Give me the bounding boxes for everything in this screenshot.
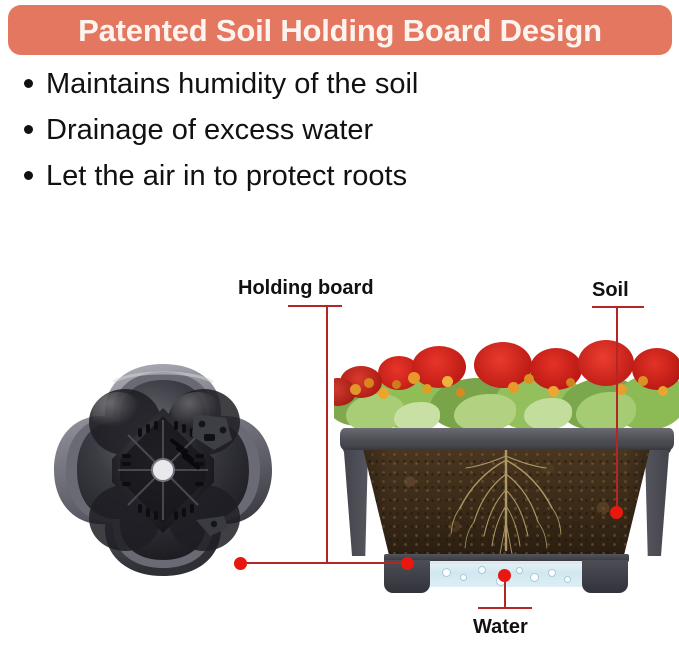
soil-holding-board-image <box>18 358 308 620</box>
leader-dot-water <box>498 569 511 582</box>
planter-body <box>334 450 679 556</box>
leader-tick-soil <box>592 306 644 308</box>
bullet-point-icon <box>24 171 33 180</box>
leader-line-holding-board-vertical <box>326 305 328 563</box>
leader-line-soil-vertical <box>616 306 618 514</box>
leader-line-holding-board-horizontal <box>240 562 412 564</box>
pot-wall-left <box>334 450 368 556</box>
bullet-point-icon <box>24 125 33 134</box>
leader-tick-holding-board <box>288 305 342 307</box>
leader-dot-holding-board-left <box>234 557 247 570</box>
leader-dot-holding-board-right <box>401 557 414 570</box>
bullet-point-icon <box>24 79 33 88</box>
feature-text: Drainage of excess water <box>46 116 373 145</box>
feature-list: Maintains humidity of the soil Drainage … <box>24 70 584 208</box>
flower-cluster <box>334 332 679 436</box>
header-banner: Patented Soil Holding Board Design <box>8 5 672 55</box>
callout-label-soil: Soil <box>592 279 629 302</box>
planter-cross-section-image <box>334 332 679 600</box>
pot-wall-right <box>645 450 679 556</box>
list-item: Let the air in to protect roots <box>24 162 584 208</box>
feature-text: Maintains humidity of the soil <box>46 70 418 99</box>
list-item: Maintains humidity of the soil <box>24 70 584 116</box>
feature-text: Let the air in to protect roots <box>46 162 407 191</box>
list-item: Drainage of excess water <box>24 116 584 162</box>
callout-label-water: Water <box>473 616 528 639</box>
leader-line-water-vertical <box>504 580 506 608</box>
leader-dot-soil <box>610 506 623 519</box>
page-title: Patented Soil Holding Board Design <box>78 15 602 46</box>
planter-foot-right <box>582 560 628 593</box>
callout-label-holding-board: Holding board <box>238 277 374 300</box>
product-infographic: Patented Soil Holding Board Design Maint… <box>0 0 679 651</box>
